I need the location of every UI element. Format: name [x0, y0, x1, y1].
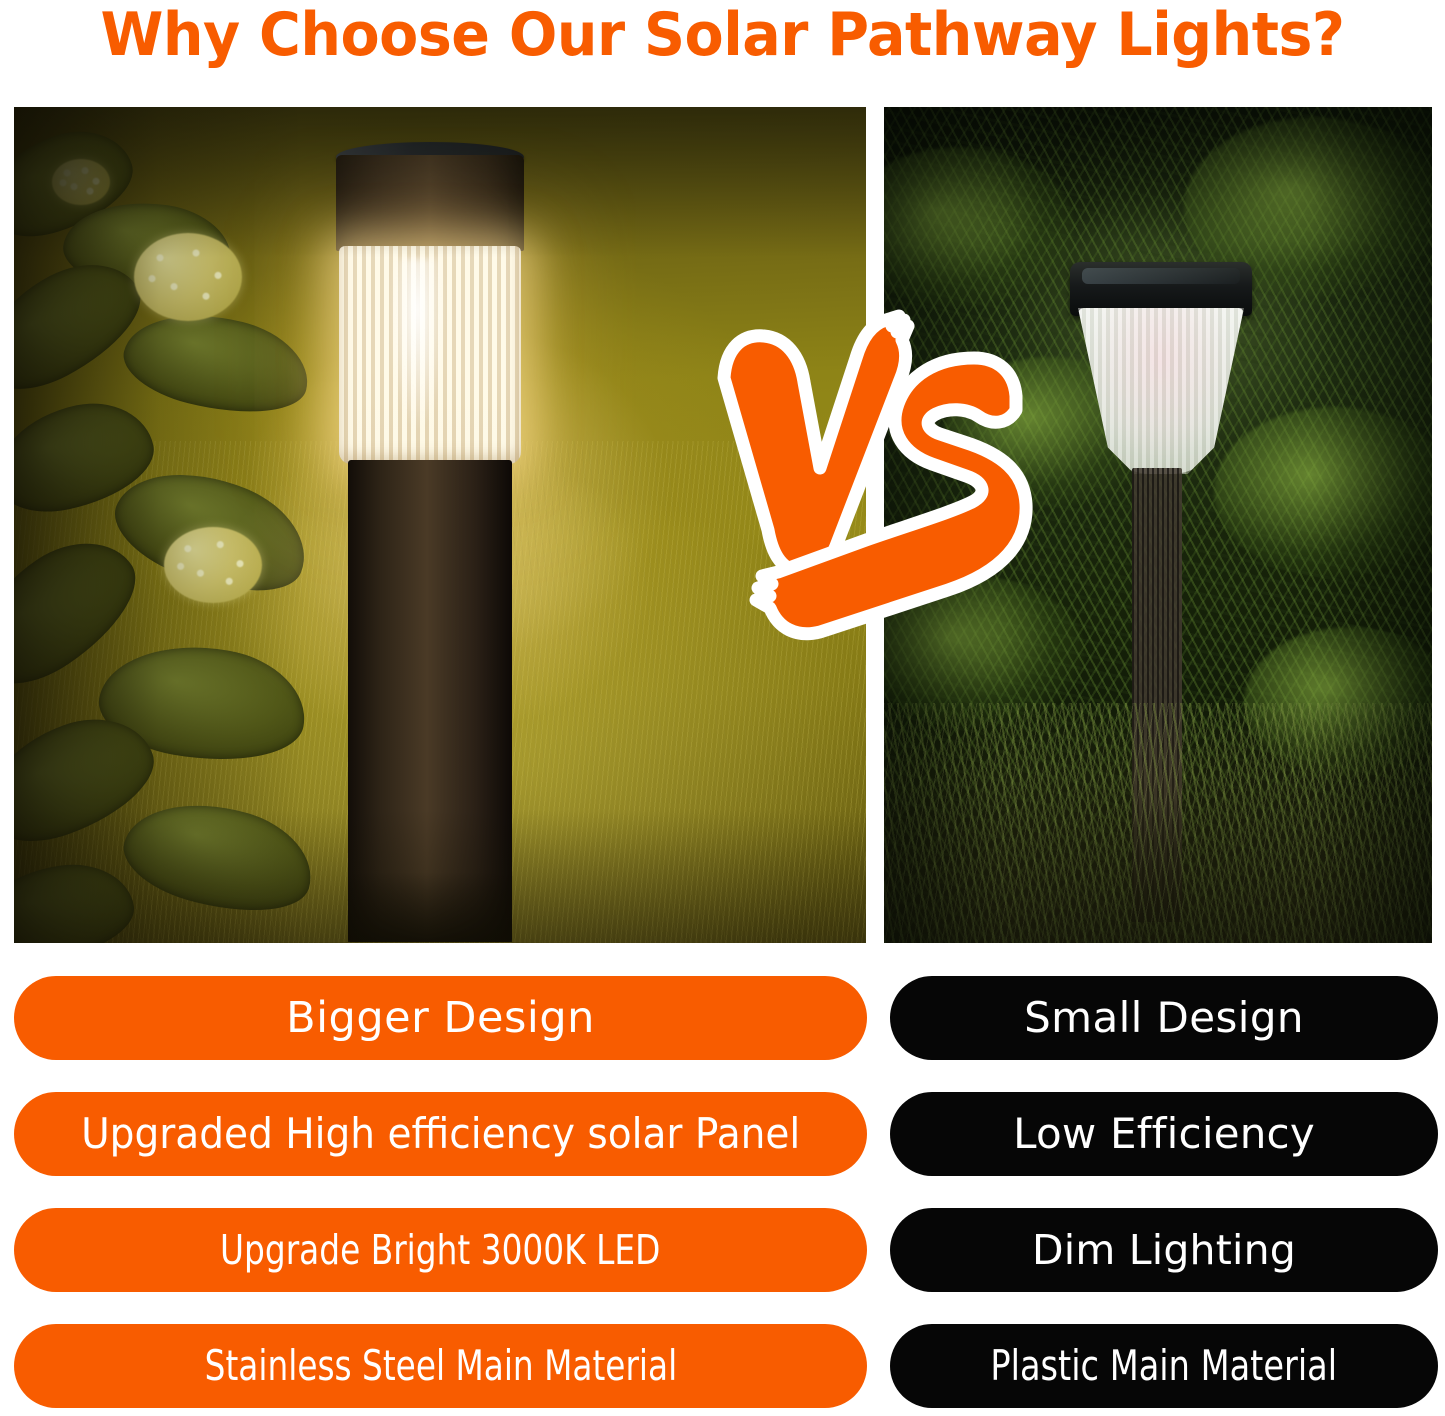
pro-feature-label: Stainless Steel Main Material	[204, 1345, 677, 1387]
page-title: Why Choose Our Solar Pathway Lights?	[36, 2, 1409, 74]
pro-feature-pill: Upgraded High efficiency solar Panel	[14, 1092, 867, 1176]
pro-feature-pill: Bigger Design	[14, 976, 867, 1060]
con-feature-pill: Low Efficiency	[890, 1092, 1438, 1176]
pro-feature-label: Upgraded High efficiency solar Panel	[81, 1113, 800, 1155]
con-feature-label: Plastic Main Material	[991, 1345, 1338, 1387]
con-feature-pill: Plastic Main Material	[890, 1324, 1438, 1408]
pro-feature-label: Upgrade Bright 3000K LED	[220, 1230, 660, 1271]
con-feature-label: Small Design	[1024, 997, 1304, 1039]
con-feature-label: Dim Lighting	[1032, 1230, 1296, 1271]
pro-feature-pill: Upgrade Bright 3000K LED	[14, 1208, 867, 1292]
con-feature-pill: Small Design	[890, 976, 1438, 1060]
pro-feature-label: Bigger Design	[286, 997, 595, 1040]
infographic-page: Why Choose Our Solar Pathway Lights?	[0, 0, 1445, 1416]
pro-feature-pill: Stainless Steel Main Material	[14, 1324, 867, 1408]
vs-badge-icon	[716, 300, 1046, 690]
con-feature-label: Low Efficiency	[1013, 1113, 1315, 1155]
con-feature-pill: Dim Lighting	[890, 1208, 1438, 1292]
